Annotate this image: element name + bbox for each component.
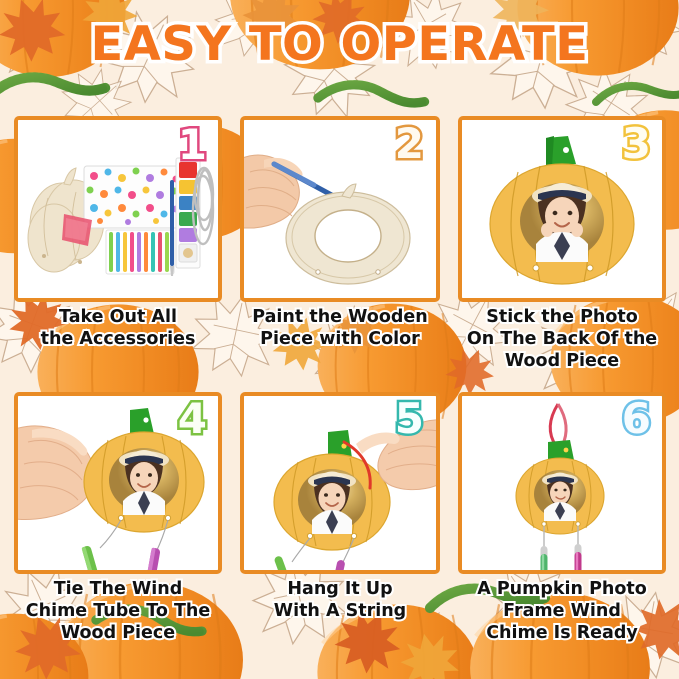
- caption-line: On The Back Of the: [458, 328, 666, 350]
- step-image-panel-5[interactable]: 5: [240, 392, 440, 574]
- step-caption-2: Paint the Wooden Piece with Color: [240, 306, 440, 350]
- caption-line: Take Out All: [14, 306, 222, 328]
- step-caption-4: Tie The Wind Chime Tube To The Wood Piec…: [14, 578, 222, 644]
- step-number-2: 2: [395, 123, 424, 165]
- step-image-panel-6[interactable]: 6: [458, 392, 666, 574]
- step-caption-6: A Pumpkin Photo Frame Wind Chime Is Read…: [458, 578, 666, 644]
- caption-line: Tie The Wind: [14, 578, 222, 600]
- caption-line: Wood Piece: [14, 622, 222, 644]
- step-card-3: 3 Stick the Photo On The Back Of the Woo…: [458, 116, 666, 378]
- step-card-5: 5 Hang It Up With A String: [240, 392, 440, 664]
- caption-line: A Pumpkin Photo: [458, 578, 666, 600]
- caption-line: With A String: [240, 600, 440, 622]
- caption-line: Piece with Color: [240, 328, 440, 350]
- infographic-root: EASY TO OPERATE: [0, 0, 679, 679]
- caption-line: Wood Piece: [458, 350, 666, 372]
- step-image-panel-1[interactable]: 1: [14, 116, 222, 302]
- caption-line: Stick the Photo: [458, 306, 666, 328]
- caption-line: the Accessories: [14, 328, 222, 350]
- step-card-6: 6 A Pumpkin Photo Frame Wind Chime Is Re…: [458, 392, 666, 664]
- step-image-panel-4[interactable]: 4: [14, 392, 222, 574]
- caption-line: Chime Tube To The: [14, 600, 222, 622]
- step-number-1: 1: [178, 124, 207, 166]
- caption-line: Frame Wind: [458, 600, 666, 622]
- step-number-4: 4: [178, 398, 207, 440]
- step-number-3: 3: [622, 123, 651, 165]
- step-number-6: 6: [622, 398, 651, 440]
- step-number-5: 5: [395, 398, 424, 440]
- caption-line: Paint the Wooden: [240, 306, 440, 328]
- steps-grid: 1 Take Out All the Accessories: [0, 0, 679, 679]
- step-card-1: 1 Take Out All the Accessories: [14, 116, 222, 378]
- caption-line: Chime Is Ready: [458, 622, 666, 644]
- step-card-4: 4 Tie The Wind Chime Tube To The Wood Pi…: [14, 392, 222, 664]
- step-caption-1: Take Out All the Accessories: [14, 306, 222, 350]
- step-caption-5: Hang It Up With A String: [240, 578, 440, 622]
- step-image-panel-2[interactable]: 2: [240, 116, 440, 302]
- caption-line: Hang It Up: [240, 578, 440, 600]
- step-card-2: 2 Paint the Wooden Piece with Color: [240, 116, 440, 378]
- step-caption-3: Stick the Photo On The Back Of the Wood …: [458, 306, 666, 372]
- step-image-panel-3[interactable]: 3: [458, 116, 666, 302]
